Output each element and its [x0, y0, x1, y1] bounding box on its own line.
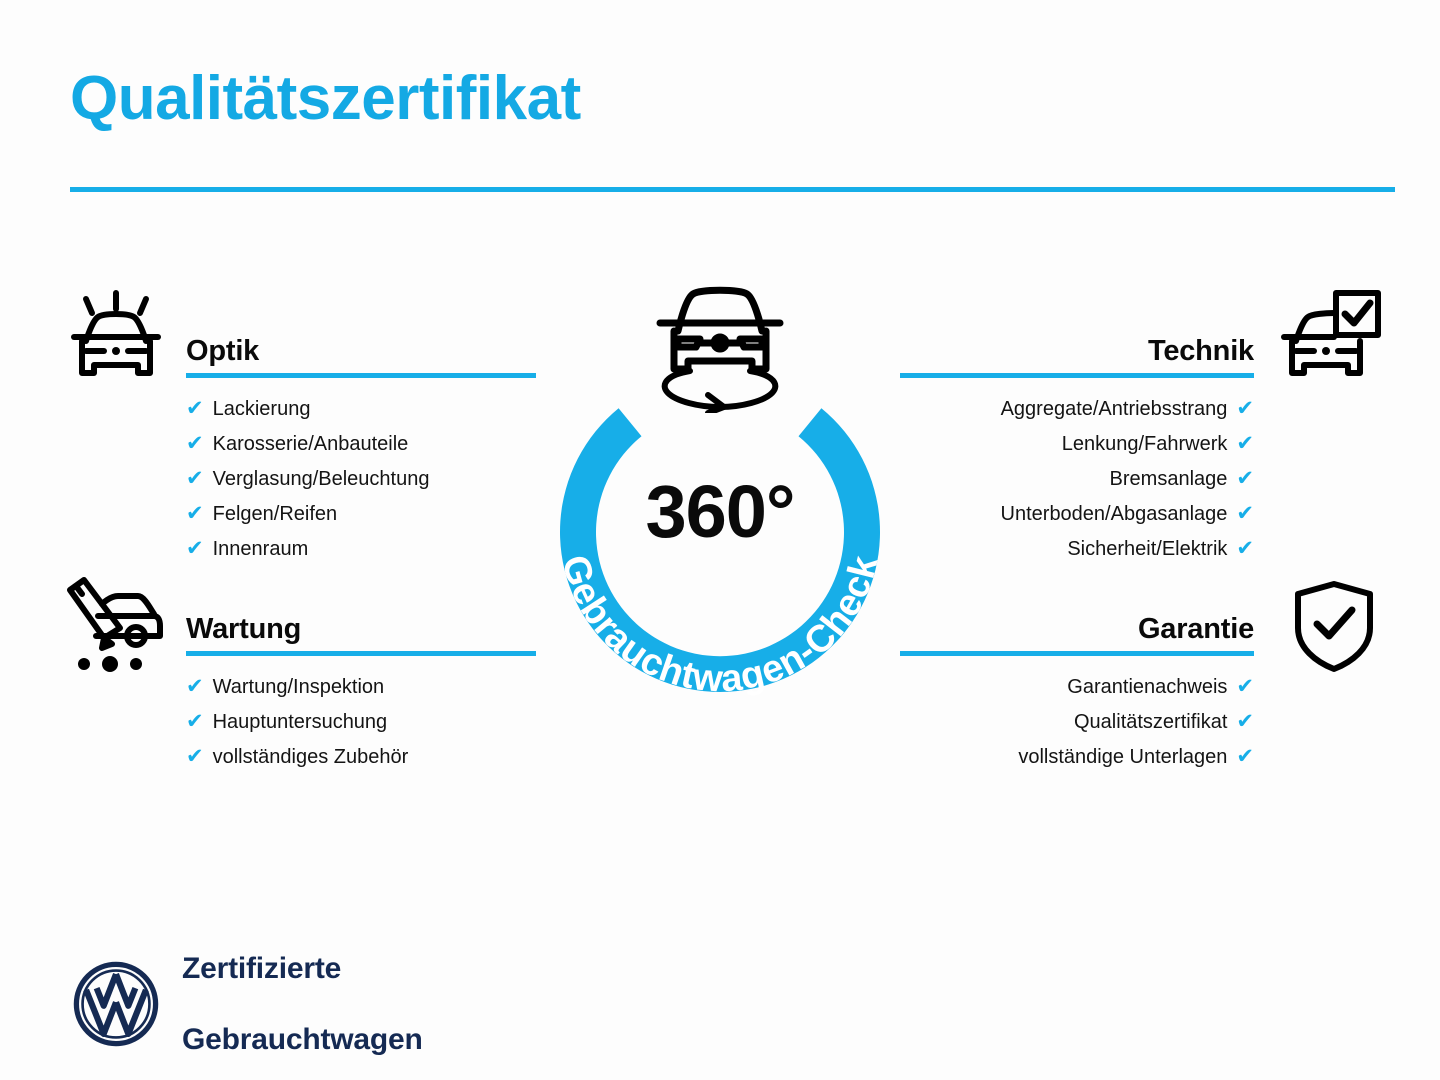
- list-item: ✔ vollständiges Zubehör: [186, 746, 536, 767]
- certificate-page: Qualitätszertifikat: [0, 0, 1440, 1080]
- section-technik: Technik Aggregate/Antriebsstrang ✔ Lenku…: [900, 336, 1254, 573]
- list-item-label: Garantienachweis: [1067, 677, 1227, 697]
- brand-lockup: Zertifizierte Gebrauchtwagen: [72, 916, 423, 1080]
- section-divider-garantie: [900, 651, 1254, 656]
- list-item: ✔ Wartung/Inspektion: [186, 676, 536, 697]
- volkswagen-logo: [72, 960, 160, 1048]
- list-item-label: Verglasung/Beleuchtung: [213, 469, 430, 489]
- brand-line-1: Zertifizierte: [182, 951, 423, 986]
- page-title: Qualitätszertifikat: [70, 68, 581, 130]
- check-icon: ✔: [186, 711, 204, 732]
- brand-line-2: Gebrauchtwagen: [182, 1022, 423, 1057]
- list-item: Bremsanlage ✔: [900, 468, 1254, 489]
- list-item-label: Lackierung: [213, 399, 311, 419]
- check-icon: ✔: [1236, 711, 1254, 732]
- section-divider-optik: [186, 373, 536, 378]
- list-item: Sicherheit/Elektrik ✔: [900, 538, 1254, 559]
- badge-curved-label: Gebrauchtwagen-Check: [553, 551, 886, 699]
- checklist-optik: ✔ Lackierung ✔ Karosserie/Anbauteile ✔ V…: [186, 398, 536, 559]
- badge-center-label: 360°: [522, 475, 918, 549]
- checklist-wartung: ✔ Wartung/Inspektion ✔ Hauptuntersuchung…: [186, 676, 536, 767]
- section-garantie: Garantie Garantienachweis ✔ Qualitätszer…: [900, 614, 1254, 781]
- section-optik: Optik ✔ Lackierung ✔ Karosserie/Anbautei…: [186, 336, 536, 573]
- list-item-label: Innenraum: [213, 539, 309, 559]
- check-icon: ✔: [186, 538, 204, 559]
- list-item-label: vollständige Unterlagen: [1018, 747, 1227, 767]
- list-item: ✔ Karosserie/Anbauteile: [186, 433, 536, 454]
- list-item: Aggregate/Antriebsstrang ✔: [900, 398, 1254, 419]
- list-item-label: Sicherheit/Elektrik: [1067, 539, 1227, 559]
- list-item-label: Lenkung/Fahrwerk: [1062, 434, 1228, 454]
- list-item: ✔ Hauptuntersuchung: [186, 711, 536, 732]
- brand-lockup-text: Zertifizierte Gebrauchtwagen: [182, 916, 423, 1080]
- list-item: ✔ Lackierung: [186, 398, 536, 419]
- check-icon: ✔: [1236, 503, 1254, 524]
- service-record-pencil-car-icon: [58, 574, 168, 679]
- list-item-label: Karosserie/Anbauteile: [213, 434, 409, 454]
- check-icon: ✔: [1236, 468, 1254, 489]
- check-icon: ✔: [186, 398, 204, 419]
- check-icon: ✔: [1236, 538, 1254, 559]
- check-icon: ✔: [186, 746, 204, 767]
- list-item-label: Aggregate/Antriebsstrang: [1001, 399, 1228, 419]
- title-divider: [70, 187, 1395, 192]
- list-item-label: Qualitätszertifikat: [1074, 712, 1227, 732]
- check-icon: ✔: [1236, 746, 1254, 767]
- list-item: Garantienachweis ✔: [900, 676, 1254, 697]
- section-divider-wartung: [186, 651, 536, 656]
- list-item-label: Bremsanlage: [1110, 469, 1228, 489]
- car-checkbox-icon: [1278, 289, 1382, 394]
- list-item-label: vollständiges Zubehör: [213, 747, 409, 767]
- list-item: Unterboden/Abgasanlage ✔: [900, 503, 1254, 524]
- check-icon: ✔: [1236, 676, 1254, 697]
- checklist-technik: Aggregate/Antriebsstrang ✔ Lenkung/Fahrw…: [900, 398, 1254, 559]
- list-item: vollständige Unterlagen ✔: [900, 746, 1254, 767]
- checklist-garantie: Garantienachweis ✔ Qualitätszertifikat ✔…: [900, 676, 1254, 767]
- check-icon: ✔: [186, 676, 204, 697]
- section-heading-garantie: Garantie: [900, 614, 1254, 644]
- shield-check-icon: [1288, 578, 1380, 679]
- list-item-label: Wartung/Inspektion: [213, 677, 385, 697]
- list-item: ✔ Verglasung/Beleuchtung: [186, 468, 536, 489]
- section-heading-wartung: Wartung: [186, 614, 536, 644]
- section-heading-optik: Optik: [186, 336, 536, 366]
- check-icon: ✔: [186, 503, 204, 524]
- 360-check-badge: Gebrauchtwagen-Check 360°: [522, 283, 918, 699]
- list-item: ✔ Felgen/Reifen: [186, 503, 536, 524]
- list-item: Lenkung/Fahrwerk ✔: [900, 433, 1254, 454]
- car-shine-icon: [64, 289, 168, 394]
- list-item: Qualitätszertifikat ✔: [900, 711, 1254, 732]
- check-icon: ✔: [186, 468, 204, 489]
- check-icon: ✔: [1236, 398, 1254, 419]
- section-heading-technik: Technik: [900, 336, 1254, 366]
- check-icon: ✔: [186, 433, 204, 454]
- list-item-label: Felgen/Reifen: [213, 504, 338, 524]
- list-item-label: Unterboden/Abgasanlage: [1001, 504, 1228, 524]
- section-divider-technik: [900, 373, 1254, 378]
- car-360-rotation-icon: [638, 283, 802, 413]
- check-icon: ✔: [1236, 433, 1254, 454]
- section-wartung: Wartung ✔ Wartung/Inspektion ✔ Hauptunte…: [186, 614, 536, 781]
- list-item: ✔ Innenraum: [186, 538, 536, 559]
- list-item-label: Hauptuntersuchung: [213, 712, 388, 732]
